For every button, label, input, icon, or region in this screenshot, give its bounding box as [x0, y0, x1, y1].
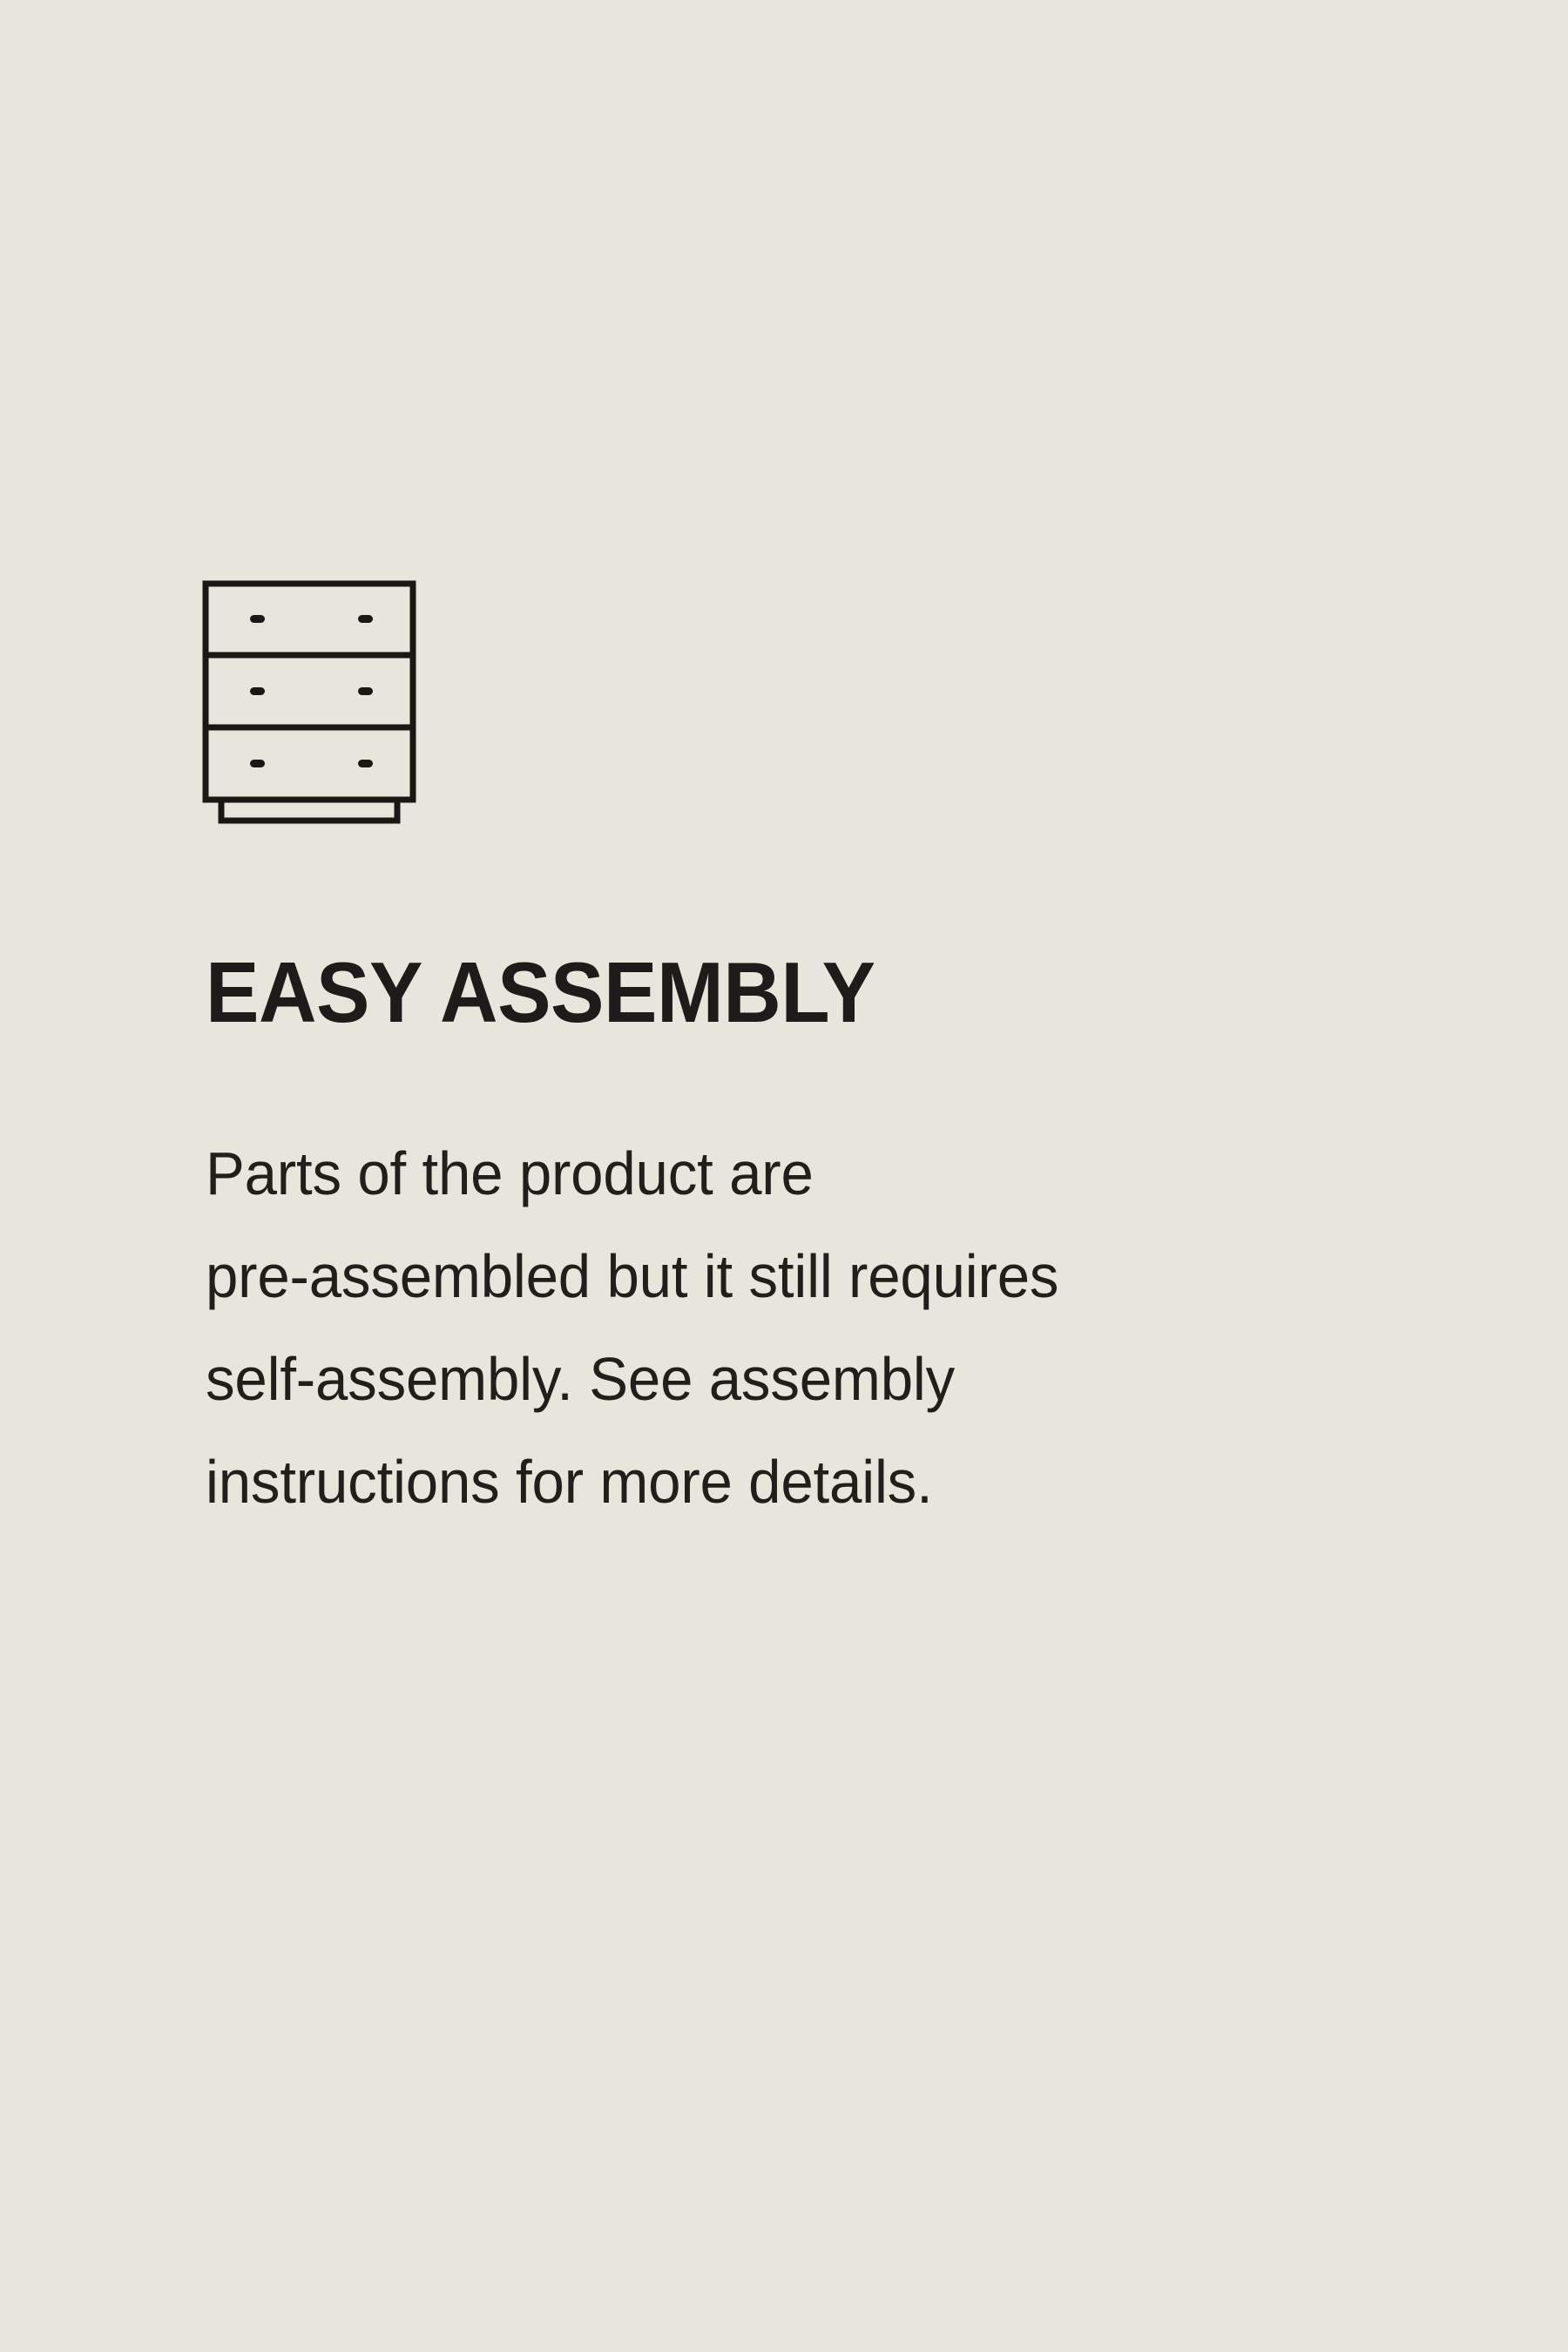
description-line: pre-assembled but it still requires [206, 1225, 1360, 1328]
drawer-2-handle-right [358, 687, 373, 695]
drawer-handles-group [250, 615, 373, 767]
dresser-chest-of-drawers-icon [202, 575, 420, 828]
feature-icon-container [202, 575, 420, 828]
drawer-1-handle-left [250, 615, 265, 623]
plinth-base-outline [221, 800, 397, 821]
cabinet-body-outline [206, 584, 413, 800]
description-line: self-assembly. See assembly [206, 1328, 1360, 1430]
drawer-3-handle-right [358, 760, 373, 767]
feature-description: Parts of the product are pre-assembled b… [206, 1122, 1360, 1533]
drawer-1-handle-right [358, 615, 373, 623]
drawer-2-handle-left [250, 687, 265, 695]
description-line: instructions for more details. [206, 1430, 1360, 1533]
easy-assembly-feature-card: EASY ASSEMBLY Parts of the product are p… [0, 0, 1568, 2352]
feature-heading: EASY ASSEMBLY [206, 948, 875, 1037]
description-line: Parts of the product are [206, 1122, 1360, 1225]
drawer-3-handle-left [250, 760, 265, 767]
